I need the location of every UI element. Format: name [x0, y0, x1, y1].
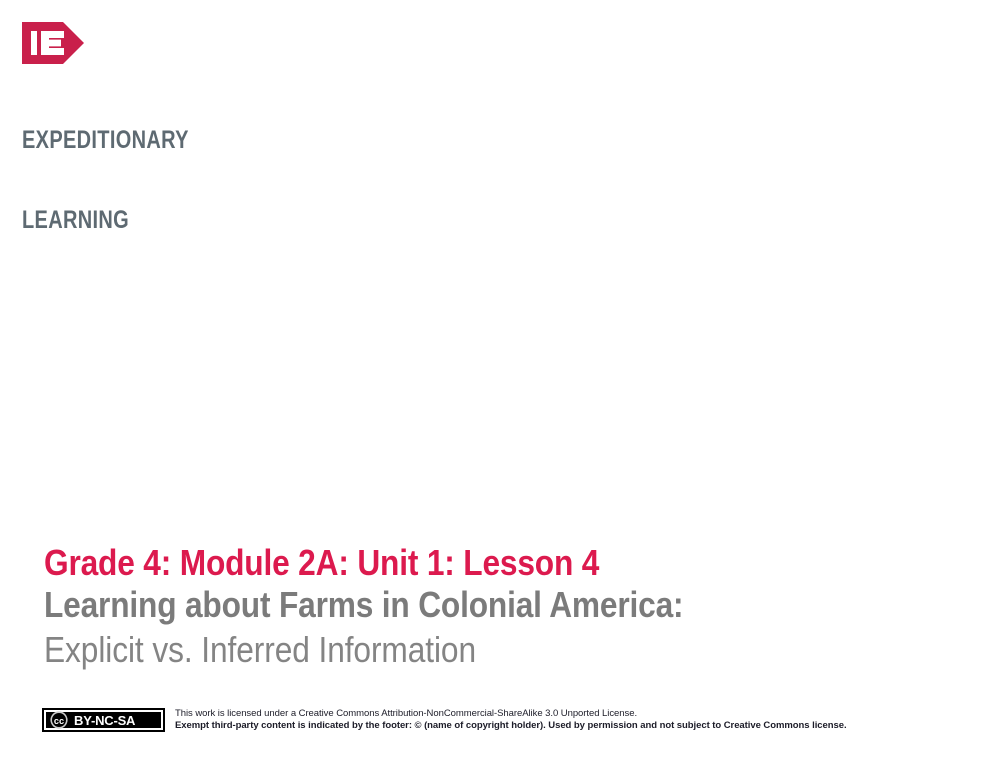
page-title: Grade 4: Module 2A: Unit 1: Lesson 4 Lea…	[44, 542, 944, 672]
license-line-2: Exempt third-party content is indicated …	[175, 720, 847, 732]
license-footer: cc BY-NC-SA This work is licensed under …	[42, 708, 847, 733]
brand-wordmark: EXPEDITIONARY LEARNING	[22, 74, 230, 286]
title-line-lesson-topic: Learning about Farms in Colonial America…	[44, 583, 836, 627]
expeditionary-learning-e-banner-icon	[22, 22, 84, 64]
title-line-lesson-subtopic: Explicit vs. Inferred Information	[44, 627, 836, 672]
license-text: This work is licensed under a Creative C…	[175, 708, 847, 733]
svg-text:cc: cc	[54, 716, 64, 726]
brand-wordmark-line-1: EXPEDITIONARY	[22, 127, 230, 154]
brand-logo: EXPEDITIONARY LEARNING	[22, 22, 282, 286]
brand-wordmark-line-2: LEARNING	[22, 207, 230, 234]
license-line-1: This work is licensed under a Creative C…	[175, 708, 847, 720]
title-line-lesson-identifier: Grade 4: Module 2A: Unit 1: Lesson 4	[44, 542, 836, 583]
creative-commons-by-nc-sa-icon[interactable]: cc BY-NC-SA	[42, 708, 165, 732]
slide-canvas: EXPEDITIONARY LEARNING Grade 4: Module 2…	[0, 0, 996, 758]
svg-text:BY-NC-SA: BY-NC-SA	[74, 713, 136, 728]
